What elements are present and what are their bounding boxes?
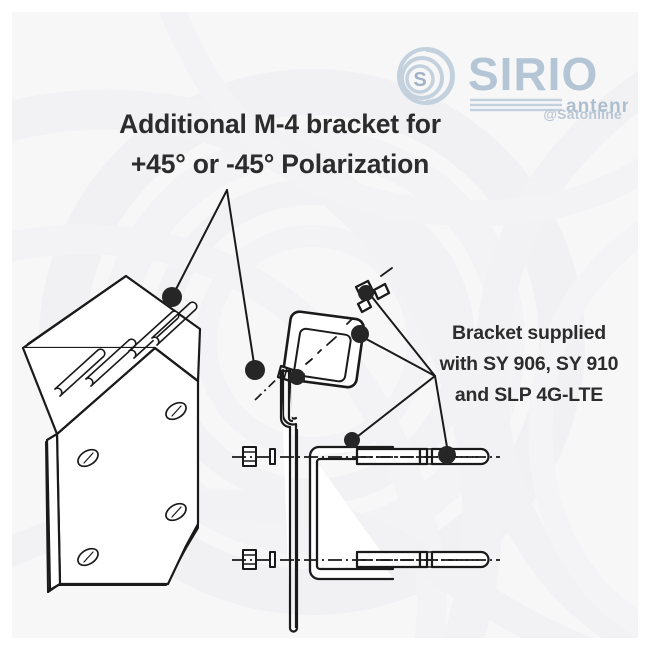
page-title: Additional M-4 bracket for +45° or -45° … — [0, 104, 560, 185]
page-title-line-2: +45° or -45° Polarization — [0, 144, 560, 184]
supplied-bracket-note: Bracket supplied with SY 906, SY 910 and… — [418, 318, 640, 410]
note-line-2: with SY 906, SY 910 — [418, 349, 640, 380]
diagram-page: S SIRIO antenne @Satonline Additional M-… — [0, 0, 650, 650]
sirio-logo-wordmark: SIRIO — [468, 48, 598, 100]
sirio-logo-mark: S — [399, 49, 453, 103]
note-line-3: and SLP 4G-LTE — [418, 380, 640, 411]
svg-text:S: S — [413, 69, 426, 91]
page-title-line-1: Additional M-4 bracket for — [0, 104, 560, 144]
note-line-1: Bracket supplied — [418, 318, 640, 349]
